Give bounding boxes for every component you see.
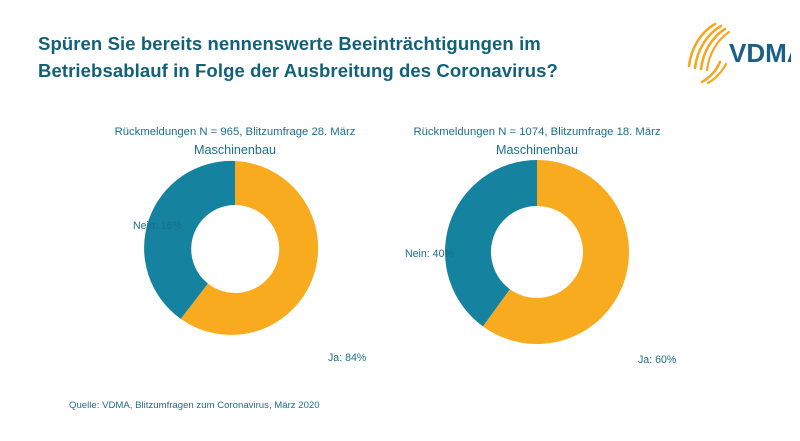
page-title-line-2: Betriebsablauf in Folge der Ausbreitung … [38, 57, 638, 84]
chart-subheader-right: Maschinenbau [357, 141, 717, 160]
chart-block-maerz-18: Rückmeldungen N = 1074, Blitzumfrage 18.… [357, 124, 717, 375]
slide-canvas: Spüren Sie bereits nennenswerte Beeinträ… [0, 0, 800, 441]
vdma-logo: VDMA [679, 22, 791, 84]
page-title-line-1: Spüren Sie bereits nennenswerte Beeinträ… [38, 30, 638, 57]
chart-header-right: Rückmeldungen N = 1074, Blitzumfrage 18.… [357, 124, 717, 160]
logo-text: VDMA [729, 38, 791, 68]
data-label-nein-right: Nein: 40% [405, 248, 454, 260]
logo-swoosh-icon [689, 24, 729, 83]
donut-chart-right: Nein: 40% Ja: 60% [357, 160, 717, 375]
chart-header-line-right: Rückmeldungen N = 1074, Blitzumfrage 18.… [357, 124, 717, 141]
data-label-nein-left: Nein: 16% [133, 220, 182, 232]
data-label-ja-right: Ja: 60% [638, 354, 676, 366]
source-note: Quelle: VDMA, Blitzumfragen zum Coronavi… [69, 400, 320, 411]
page-title: Spüren Sie bereits nennenswerte Beeinträ… [38, 30, 638, 84]
